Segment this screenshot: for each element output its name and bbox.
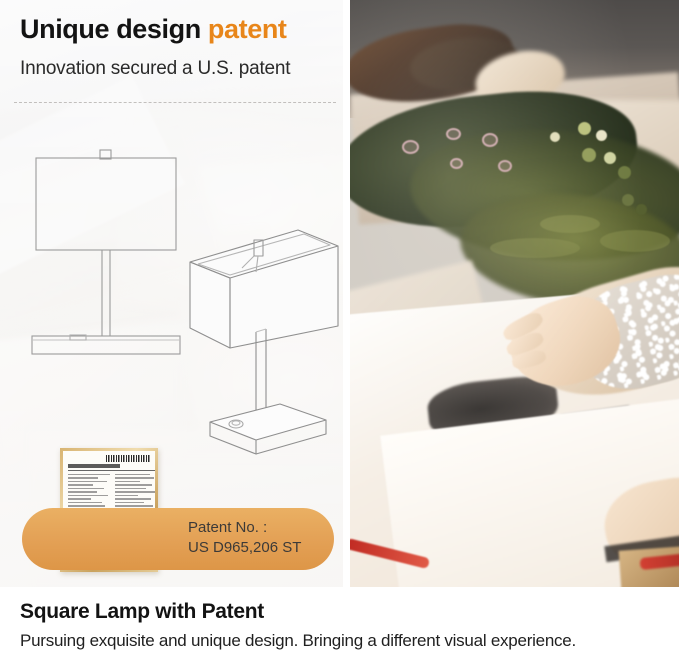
footer-title: Square Lamp with Patent bbox=[20, 600, 264, 624]
page-title-main: Unique design bbox=[20, 14, 208, 44]
flat-lamp-drawing bbox=[14, 140, 194, 370]
iso-lamp-drawing bbox=[168, 228, 343, 464]
barcode-icon bbox=[106, 455, 150, 462]
page-title-accent: patent bbox=[208, 14, 287, 44]
patent-number-text: Patent No. : US D965,206 ST bbox=[188, 518, 338, 559]
lifestyle-photo bbox=[350, 0, 679, 587]
patent-value: US D965,206 ST bbox=[188, 538, 338, 558]
page-subtitle: Innovation secured a U.S. patent bbox=[20, 58, 290, 80]
page-title: Unique design patent bbox=[20, 14, 287, 45]
certificate-heading-bar bbox=[68, 464, 120, 468]
product-feature-card: Unique design patent Innovation secured … bbox=[0, 0, 679, 662]
patent-label: Patent No. : bbox=[188, 518, 338, 538]
dashed-divider bbox=[14, 102, 336, 103]
certificate-rule bbox=[68, 470, 155, 471]
left-illustration-panel: Unique design patent Innovation secured … bbox=[0, 0, 343, 587]
footer-subtitle: Pursuing exquisite and unique design. Br… bbox=[20, 631, 576, 651]
